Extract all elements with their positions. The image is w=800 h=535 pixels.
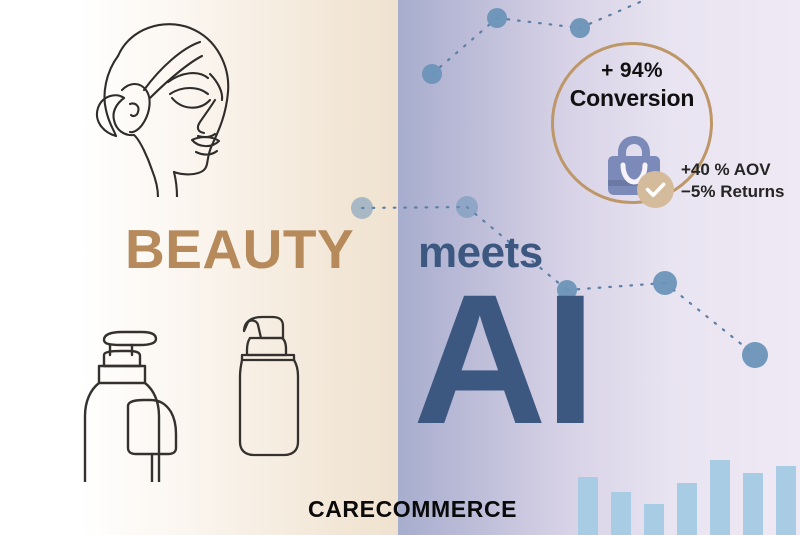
bar-chart-bar [644,504,664,535]
conversion-ring-text: + 94% Conversion [551,58,713,112]
bar-chart-bar [611,492,631,535]
bar-chart-bar [710,460,730,535]
woman-face-line-art [78,12,258,197]
headline-beauty: BEAUTY [125,222,354,277]
bar-chart [578,452,800,535]
metric-aov: +40 % AOV [681,159,784,181]
bar-chart-bar [677,483,697,535]
check-circle-icon [637,171,674,208]
side-metrics: +40 % AOV −5% Returns [681,159,784,203]
dispenser-bottle-line-art [228,308,310,460]
conversion-value: + 94% [551,58,713,84]
bar-chart-bar [776,466,796,535]
bar-chart-bar [743,473,763,535]
brand-wordmark: CARECOMMERCE [308,498,517,521]
headline-ai: AI [413,268,594,453]
conversion-label: Conversion [551,84,713,112]
promo-banner: BEAUTY meets AI + 94% Conversion +40 % A… [0,0,800,535]
metric-returns: −5% Returns [681,181,784,203]
pump-bottle-line-art [76,310,196,482]
bar-chart-bar [578,477,598,535]
